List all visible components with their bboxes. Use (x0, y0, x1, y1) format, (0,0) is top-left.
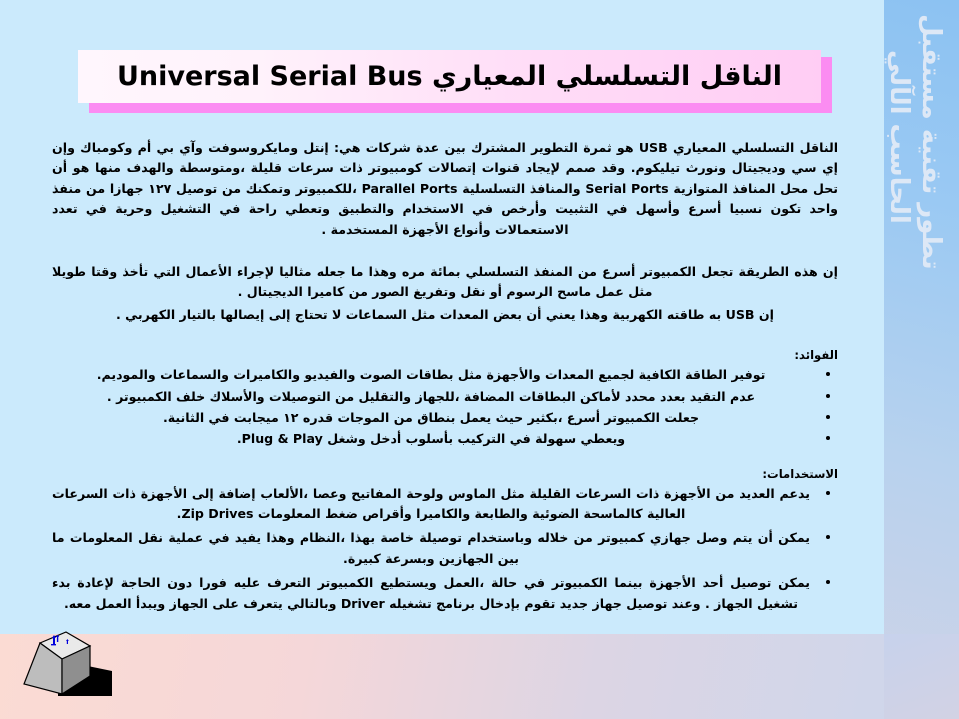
list-item: جعلت الكمبيوتر أسرع ،بكثير حيث يعمل بنطا… (52, 408, 838, 428)
bullet-icon (826, 415, 830, 419)
list-item-label: يدعم العديد من الأجهزة ذات السرعات القلي… (52, 486, 810, 521)
bullet-icon (826, 580, 830, 584)
paragraph-intro: الناقل التسلسلي المعياري USB هو ثمرة الت… (52, 138, 838, 240)
side-watermark-line-2: الحاسب الآلي (884, 50, 914, 224)
slide-content: الناقل التسلسلي المعياري USB هو ثمرة الت… (52, 138, 838, 618)
side-watermark-line-1: تطور تقنية مستقبل (916, 14, 946, 270)
bullet-icon (826, 491, 830, 495)
title-banner: الناقل التسلسلي المعياري Universal Seria… (78, 50, 821, 103)
list-item: يمكن أن يتم وصل جهازي كمبيوتر من خلاله و… (52, 528, 838, 569)
paragraph-power: إن USB به طاقته الكهربية وهذا يعني أن بع… (52, 305, 838, 325)
side-watermark: تطور تقنية مستقبل الحاسب الآلي (884, 0, 959, 400)
paragraph-speed: إن هذه الطريقة تجعل الكمبيوتر أسرع من ال… (52, 262, 838, 303)
list-item-label: يمكن أن يتم وصل جهازي كمبيوتر من خلاله و… (52, 530, 810, 565)
slide-canvas: تطور تقنية مستقبل الحاسب الآلي الناقل ال… (0, 0, 959, 719)
benefits-list: توفير الطاقة الكافية لجميع المعدات والأج… (52, 365, 838, 450)
bullet-icon (826, 535, 830, 539)
list-item: ويعطي سهولة في التركيب بأسلوب أدخل وشغل … (52, 429, 838, 449)
list-item: توفير الطاقة الكافية لجميع المعدات والأج… (52, 365, 838, 385)
right-gradient-band-lower (884, 634, 959, 719)
list-item-label: ويعطي سهولة في التركيب بأسلوب أدخل وشغل … (237, 431, 625, 446)
benefits-heading: الفوائد: (52, 348, 838, 362)
list-item-label: جعلت الكمبيوتر أسرع ،بكثير حيث يعمل بنطا… (163, 410, 699, 425)
bullet-icon (826, 372, 830, 376)
uses-list: يدعم العديد من الأجهزة ذات السرعات القلي… (52, 484, 838, 614)
list-item-label: يمكن توصيل أحد الأجهزة بينما الكمبيوتر ف… (52, 575, 810, 610)
list-item: يدعم العديد من الأجهزة ذات السرعات القلي… (52, 484, 838, 525)
list-item: عدم التقيد بعدد محدد لأماكن البطاقات الم… (52, 387, 838, 407)
uses-heading: الاستخدامات: (52, 467, 838, 481)
list-item-label: عدم التقيد بعدد محدد لأماكن البطاقات الم… (107, 389, 755, 404)
bullet-icon (826, 436, 830, 440)
spacer-benefits (52, 337, 838, 348)
spacer-uses (52, 451, 838, 467)
keyboard-key-icon (18, 624, 178, 719)
list-item-label: توفير الطاقة الكافية لجميع المعدات والأج… (97, 367, 766, 382)
list-item: يمكن توصيل أحد الأجهزة بينما الكمبيوتر ف… (52, 573, 838, 614)
bullet-icon (826, 394, 830, 398)
page-title: الناقل التسلسلي المعياري Universal Seria… (117, 63, 782, 90)
